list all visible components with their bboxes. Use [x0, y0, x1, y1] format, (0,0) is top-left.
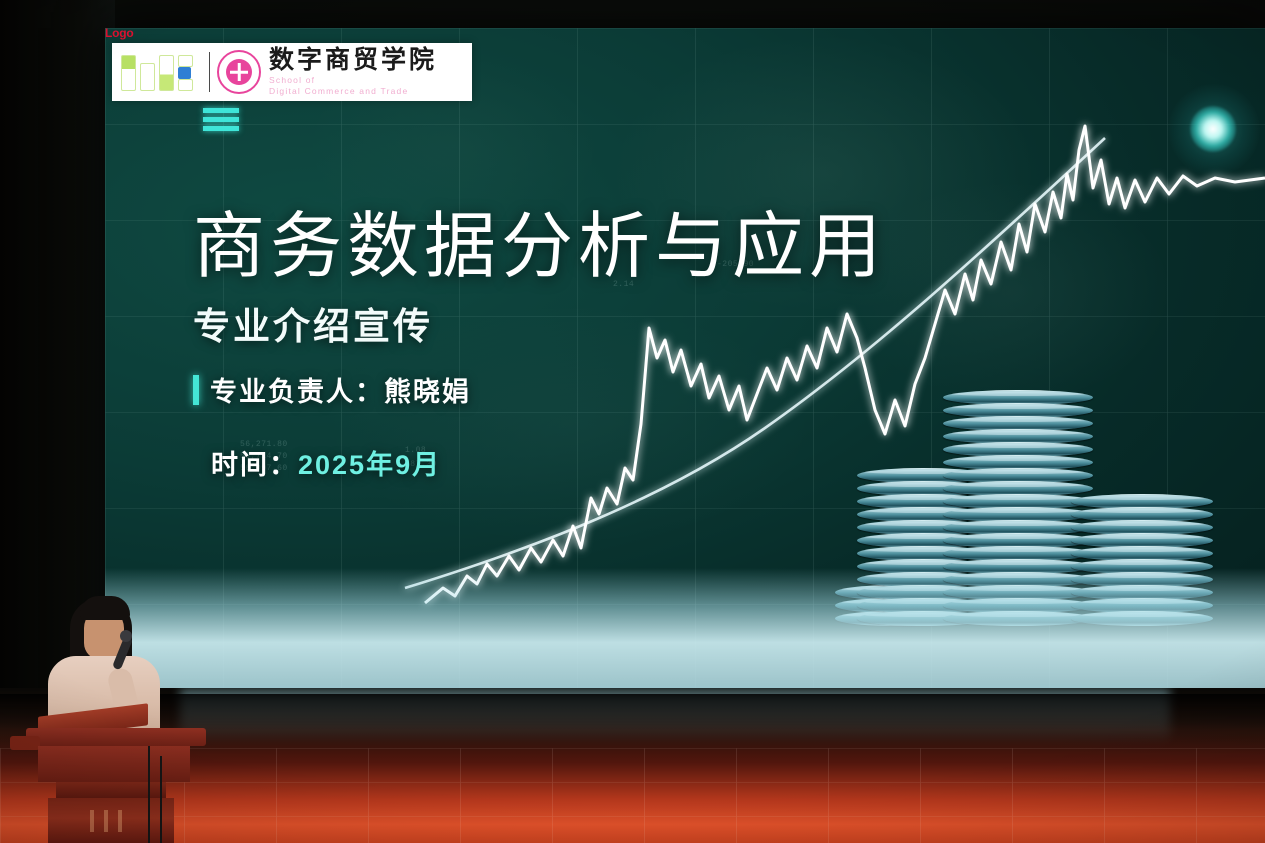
- school-name-en-line2: Digital Commerce and Trade: [269, 86, 437, 97]
- logo-placeholder-label: Logo: [105, 28, 134, 39]
- slide-date-label: 时间：: [211, 450, 298, 480]
- microphone-cable-secondary: [160, 756, 162, 843]
- logo-blue-square-icon: [178, 67, 191, 79]
- slide-subtitle: 专业介绍宣传: [193, 296, 1013, 350]
- hamburger-bars-icon: [203, 108, 239, 131]
- microphone-head-icon: [120, 630, 132, 642]
- projection-screen: 56,271.80 56,714.70 56,097.60 1.08 287.3…: [105, 28, 1265, 688]
- slide-owner-text: 专业负责人：熊晓娟: [210, 370, 471, 409]
- slide-date-row: 时间：2025年9月: [211, 443, 1013, 482]
- accent-bar-icon: [193, 375, 199, 405]
- logo-divider: [209, 52, 210, 92]
- circular-seal-icon: [217, 50, 261, 94]
- slide-title: 商务数据分析与应用: [193, 208, 1013, 284]
- podium-emblem: [90, 810, 130, 832]
- slide-light-band: [105, 568, 1265, 688]
- podium-left-wing: [10, 736, 40, 750]
- school-logo-bar: 数字商贸学院 School of Digital Commerce and Tr…: [112, 43, 472, 101]
- slide-text-block: 商务数据分析与应用 专业介绍宣传 专业负责人：熊晓娟 时间：2025年9月: [193, 208, 1013, 482]
- school-name-en-line1: School of: [269, 75, 437, 86]
- presenter-and-podium: [8, 560, 228, 843]
- glow-orb-icon: [1190, 106, 1236, 152]
- slide-date-value: 2025年9月: [298, 450, 441, 480]
- bar-chart-logo-icon: [112, 53, 202, 91]
- stage-photo: 56,271.80 56,714.70 56,097.60 1.08 287.3…: [0, 0, 1265, 843]
- presenter-hair-front: [80, 596, 130, 620]
- slide-owner-row: 专业负责人：熊晓娟: [193, 370, 1013, 409]
- school-name-cn: 数字商贸学院: [269, 47, 437, 73]
- microphone-cable: [148, 746, 150, 843]
- podium-top: [26, 728, 206, 746]
- podium-body: [38, 746, 190, 782]
